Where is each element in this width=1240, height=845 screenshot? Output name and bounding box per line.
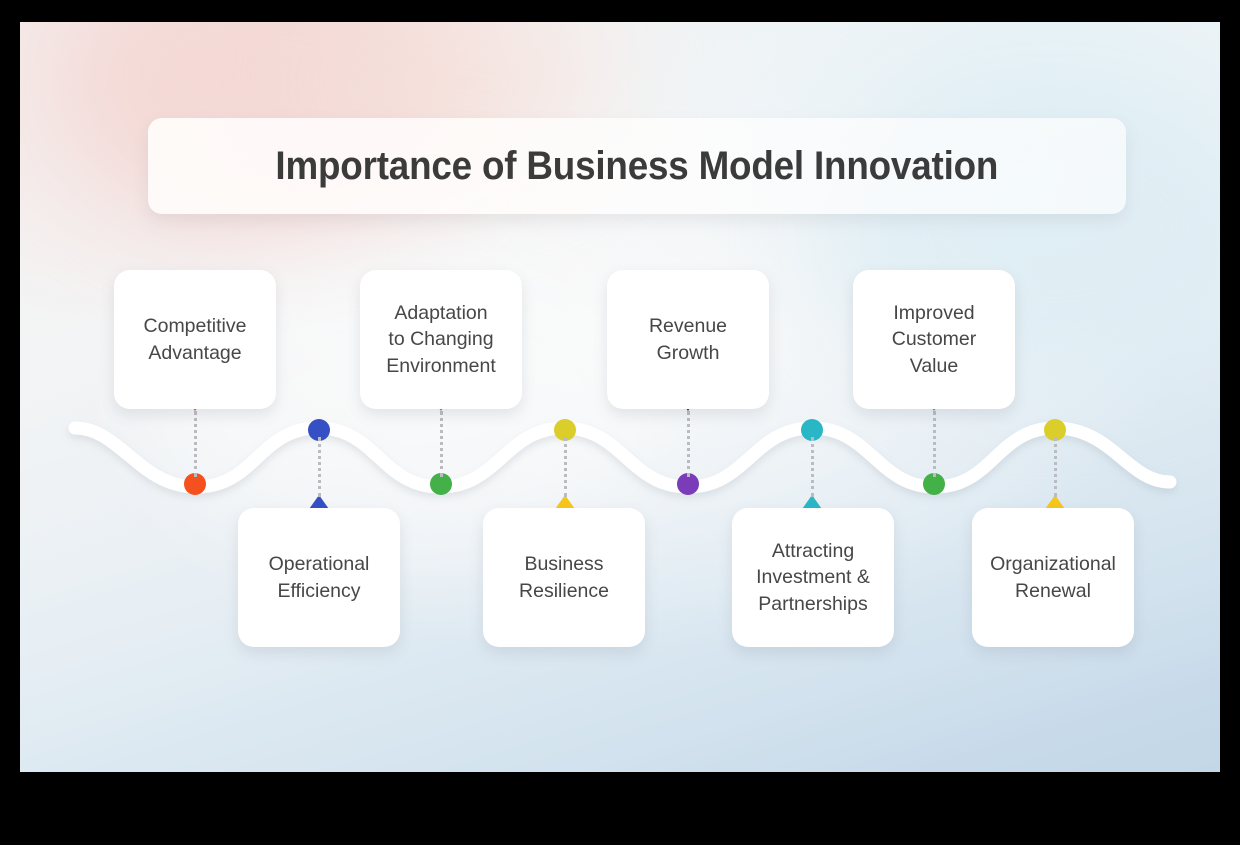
card-business-resilience[interactable]: Business Resilience	[483, 508, 645, 647]
connector-operational-efficiency	[318, 437, 321, 497]
card-label: Adaptation to Changing Environment	[386, 300, 495, 378]
page-title: Importance of Business Model Innovation	[276, 144, 999, 189]
connector-improved-customer-value	[933, 411, 936, 477]
connector-adaptation-to-changing-environment	[440, 411, 443, 477]
card-label: Competitive Advantage	[144, 313, 247, 365]
card-label: Business Resilience	[519, 551, 609, 603]
card-competitive-advantage[interactable]: Competitive Advantage	[114, 270, 276, 409]
connector-attracting-investment-partnerships	[811, 437, 814, 497]
card-operational-efficiency[interactable]: Operational Efficiency	[238, 508, 400, 647]
card-label: Attracting Investment & Partnerships	[756, 538, 870, 616]
connector-organizational-renewal	[1054, 437, 1057, 497]
title-panel: Importance of Business Model Innovation	[148, 118, 1126, 214]
card-organizational-renewal[interactable]: Organizational Renewal	[972, 508, 1134, 647]
card-adaptation-to-changing-environment[interactable]: Adaptation to Changing Environment	[360, 270, 522, 409]
card-label: Operational Efficiency	[269, 551, 370, 603]
connector-business-resilience	[564, 437, 567, 497]
connector-competitive-advantage	[194, 411, 197, 477]
connector-revenue-growth	[687, 411, 690, 477]
card-label: Improved Customer Value	[892, 300, 977, 378]
card-revenue-growth[interactable]: Revenue Growth	[607, 270, 769, 409]
card-label: Organizational Renewal	[990, 551, 1116, 603]
card-improved-customer-value[interactable]: Improved Customer Value	[853, 270, 1015, 409]
card-attracting-investment-partnerships[interactable]: Attracting Investment & Partnerships	[732, 508, 894, 647]
slide-canvas: Importance of Business Model Innovation …	[20, 22, 1220, 772]
card-label: Revenue Growth	[649, 313, 727, 365]
